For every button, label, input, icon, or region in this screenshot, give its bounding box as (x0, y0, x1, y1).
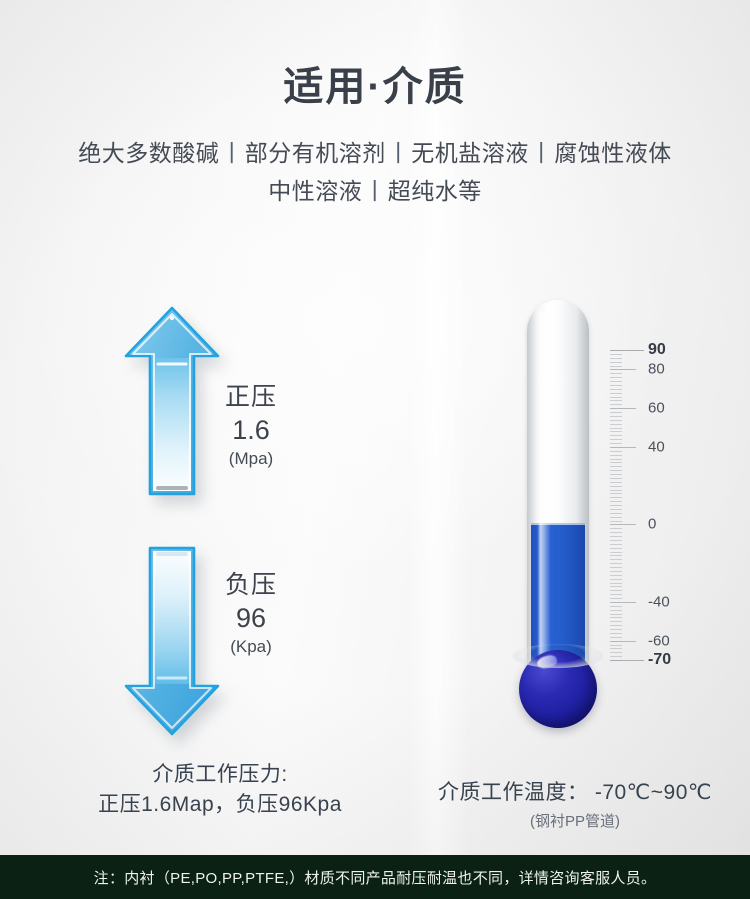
scale-tick-minor (610, 428, 622, 429)
temperature-caption-line-2: (钢衬PP管道) (410, 808, 740, 836)
scale-tick-minor (610, 540, 622, 541)
scale-tick-minor (610, 443, 622, 444)
scale-tick-minor (610, 393, 622, 394)
scale-label-80: 80 (648, 361, 665, 378)
scale-tick-minor (610, 621, 622, 622)
scale-tick-minor (610, 648, 622, 649)
scale-tick-minor (610, 586, 622, 587)
scale-tick-minor (610, 404, 622, 405)
scale-tick-minor (610, 645, 622, 646)
positive-pressure-label: 正压 1.6 (Mpa) (196, 382, 306, 471)
scale-tick-minor (610, 377, 622, 378)
scale-tick-minor (610, 486, 622, 487)
scale-tick-minor (610, 559, 622, 560)
positive-pressure-value: 1.6 (196, 413, 306, 447)
temperature-caption: 介质工作温度： -70℃~90℃ (钢衬PP管道) (410, 778, 740, 836)
scale-tick-minor (610, 490, 622, 491)
scale-tick-major (610, 660, 644, 661)
negative-pressure-label: 负压 96 (Kpa) (196, 570, 306, 659)
scale-tick-major (610, 641, 636, 642)
scale-tick-minor (610, 470, 622, 471)
thermometer-graphic (505, 300, 615, 740)
scale-tick-minor (610, 567, 622, 568)
media-subtitle: 绝大多数酸碱丨部分有机溶剂丨无机盐溶液丨腐蚀性液体 中性溶液丨超纯水等 (0, 134, 750, 210)
scale-tick-minor (610, 617, 622, 618)
scale-tick-minor (610, 606, 622, 607)
media-item-1: 绝大多数酸碱 (78, 140, 219, 166)
scale-label-90: 90 (648, 341, 666, 359)
pressure-caption-line-1: 介质工作压力: (50, 760, 390, 790)
scale-tick-minor (610, 571, 622, 572)
scale-tick-minor (610, 439, 622, 440)
bulb-highlight (536, 653, 559, 671)
negative-pressure-value: 96 (196, 601, 306, 635)
scale-tick-minor (610, 637, 622, 638)
page-title: 适用·介质 (0, 54, 750, 112)
scale-tick-minor (610, 400, 622, 401)
scale-tick-minor (610, 610, 622, 611)
separator-icon: 丨 (529, 140, 555, 166)
scale-tick-minor (610, 435, 622, 436)
scale-label-60: 60 (648, 400, 665, 417)
separator-icon: 丨 (219, 140, 245, 166)
tube-highlight (539, 310, 550, 662)
scale-tick-minor (610, 532, 622, 533)
thermometer-bulb (519, 650, 597, 728)
scale-tick-minor (610, 412, 622, 413)
scale-tick-minor (610, 625, 622, 626)
scale-tick-minor (610, 416, 622, 417)
scale-tick-minor (610, 474, 622, 475)
scale-tick-minor (610, 513, 622, 514)
scale-tick-minor (610, 462, 622, 463)
negative-pressure-title: 负压 (196, 570, 306, 601)
temperature-caption-line-1: 介质工作温度： -70℃~90℃ (410, 778, 740, 808)
scale-tick-minor (610, 583, 622, 584)
negative-pressure-unit: (Kpa) (196, 635, 306, 659)
scale-tick-minor (610, 358, 622, 359)
scale-label-0: 0 (648, 516, 656, 533)
media-subtitle-line-1: 绝大多数酸碱丨部分有机溶剂丨无机盐溶液丨腐蚀性液体 (0, 134, 750, 172)
scale-tick-minor (610, 420, 622, 421)
scale-tick-minor (610, 517, 622, 518)
scale-tick-minor (610, 633, 622, 634)
pressure-caption: 介质工作压力: 正压1.6Map，负压96Kpa (50, 760, 390, 820)
scale-tick-minor (610, 544, 622, 545)
scale-tick-major (610, 369, 636, 370)
scale-tick-minor (610, 629, 622, 630)
media-item-2: 部分有机溶剂 (245, 140, 386, 166)
scale-tick-major (610, 350, 644, 351)
media-item-3: 无机盐溶液 (411, 140, 529, 166)
scale-tick-major (610, 408, 636, 409)
scale-tick-minor (610, 598, 622, 599)
separator-icon: 丨 (362, 178, 388, 204)
scale-tick-minor (610, 501, 622, 502)
footer-note-text: 注：内衬（PE,PO,PP,PTFE,）材质不同产品耐压耐温也不同，详情咨询客服… (94, 867, 657, 888)
scale-tick-minor (610, 563, 622, 564)
background-light-band (408, 0, 468, 855)
scale-tick-minor (610, 536, 622, 537)
media-item-5: 中性溶液 (268, 178, 362, 204)
positive-pressure-title: 正压 (196, 382, 306, 413)
positive-pressure-unit: (Mpa) (196, 447, 306, 471)
separator-icon: 丨 (386, 140, 412, 166)
scale-tick-minor (610, 548, 622, 549)
scale-tick-minor (610, 366, 622, 367)
product-spec-panel: 适用·介质 绝大多数酸碱丨部分有机溶剂丨无机盐溶液丨腐蚀性液体 中性溶液丨超纯水… (0, 0, 750, 899)
media-item-4: 腐蚀性液体 (554, 140, 672, 166)
temperature-scale: 908060400-40-60-70 (600, 344, 690, 664)
scale-tick-minor (610, 509, 622, 510)
scale-tick-minor (610, 424, 622, 425)
scale-tick-major (610, 447, 636, 448)
scale-tick-minor (610, 575, 622, 576)
scale-tick-minor (610, 354, 622, 355)
scale-tick-minor (610, 594, 622, 595)
footer-note-bar: 注：内衬（PE,PO,PP,PTFE,）材质不同产品耐压耐温也不同，详情咨询客服… (0, 855, 750, 899)
scale-tick-minor (610, 521, 622, 522)
scale-tick-minor (610, 459, 622, 460)
thermometer-tube (527, 300, 589, 672)
scale-label-neg60: -60 (648, 632, 670, 649)
scale-tick-minor (610, 497, 622, 498)
media-item-6: 超纯水等 (388, 178, 482, 204)
scale-tick-minor (610, 656, 622, 657)
scale-tick-minor (610, 389, 622, 390)
scale-tick-minor (610, 478, 622, 479)
scale-tick-minor (610, 385, 622, 386)
scale-tick-minor (610, 381, 622, 382)
scale-tick-minor (610, 652, 622, 653)
scale-tick-minor (610, 482, 622, 483)
scale-label-neg70: -70 (648, 651, 671, 669)
scale-tick-minor (610, 451, 622, 452)
scale-tick-minor (610, 528, 622, 529)
scale-tick-minor (610, 614, 622, 615)
scale-tick-minor (610, 555, 622, 556)
scale-tick-minor (610, 362, 622, 363)
scale-label-neg40: -40 (648, 593, 670, 610)
scale-tick-minor (610, 590, 622, 591)
scale-tick-minor (610, 493, 622, 494)
scale-label-40: 40 (648, 438, 665, 455)
scale-tick-major (610, 524, 636, 525)
scale-tick-minor (610, 455, 622, 456)
scale-tick-minor (610, 397, 622, 398)
media-subtitle-line-2: 中性溶液丨超纯水等 (0, 172, 750, 210)
scale-tick-minor (610, 552, 622, 553)
scale-tick-major (610, 602, 636, 603)
pressure-caption-line-2: 正压1.6Map，负压96Kpa (50, 790, 390, 820)
scale-tick-minor (610, 431, 622, 432)
scale-tick-minor (610, 579, 622, 580)
scale-tick-minor (610, 505, 622, 506)
scale-tick-minor (610, 466, 622, 467)
scale-tick-minor (610, 373, 622, 374)
